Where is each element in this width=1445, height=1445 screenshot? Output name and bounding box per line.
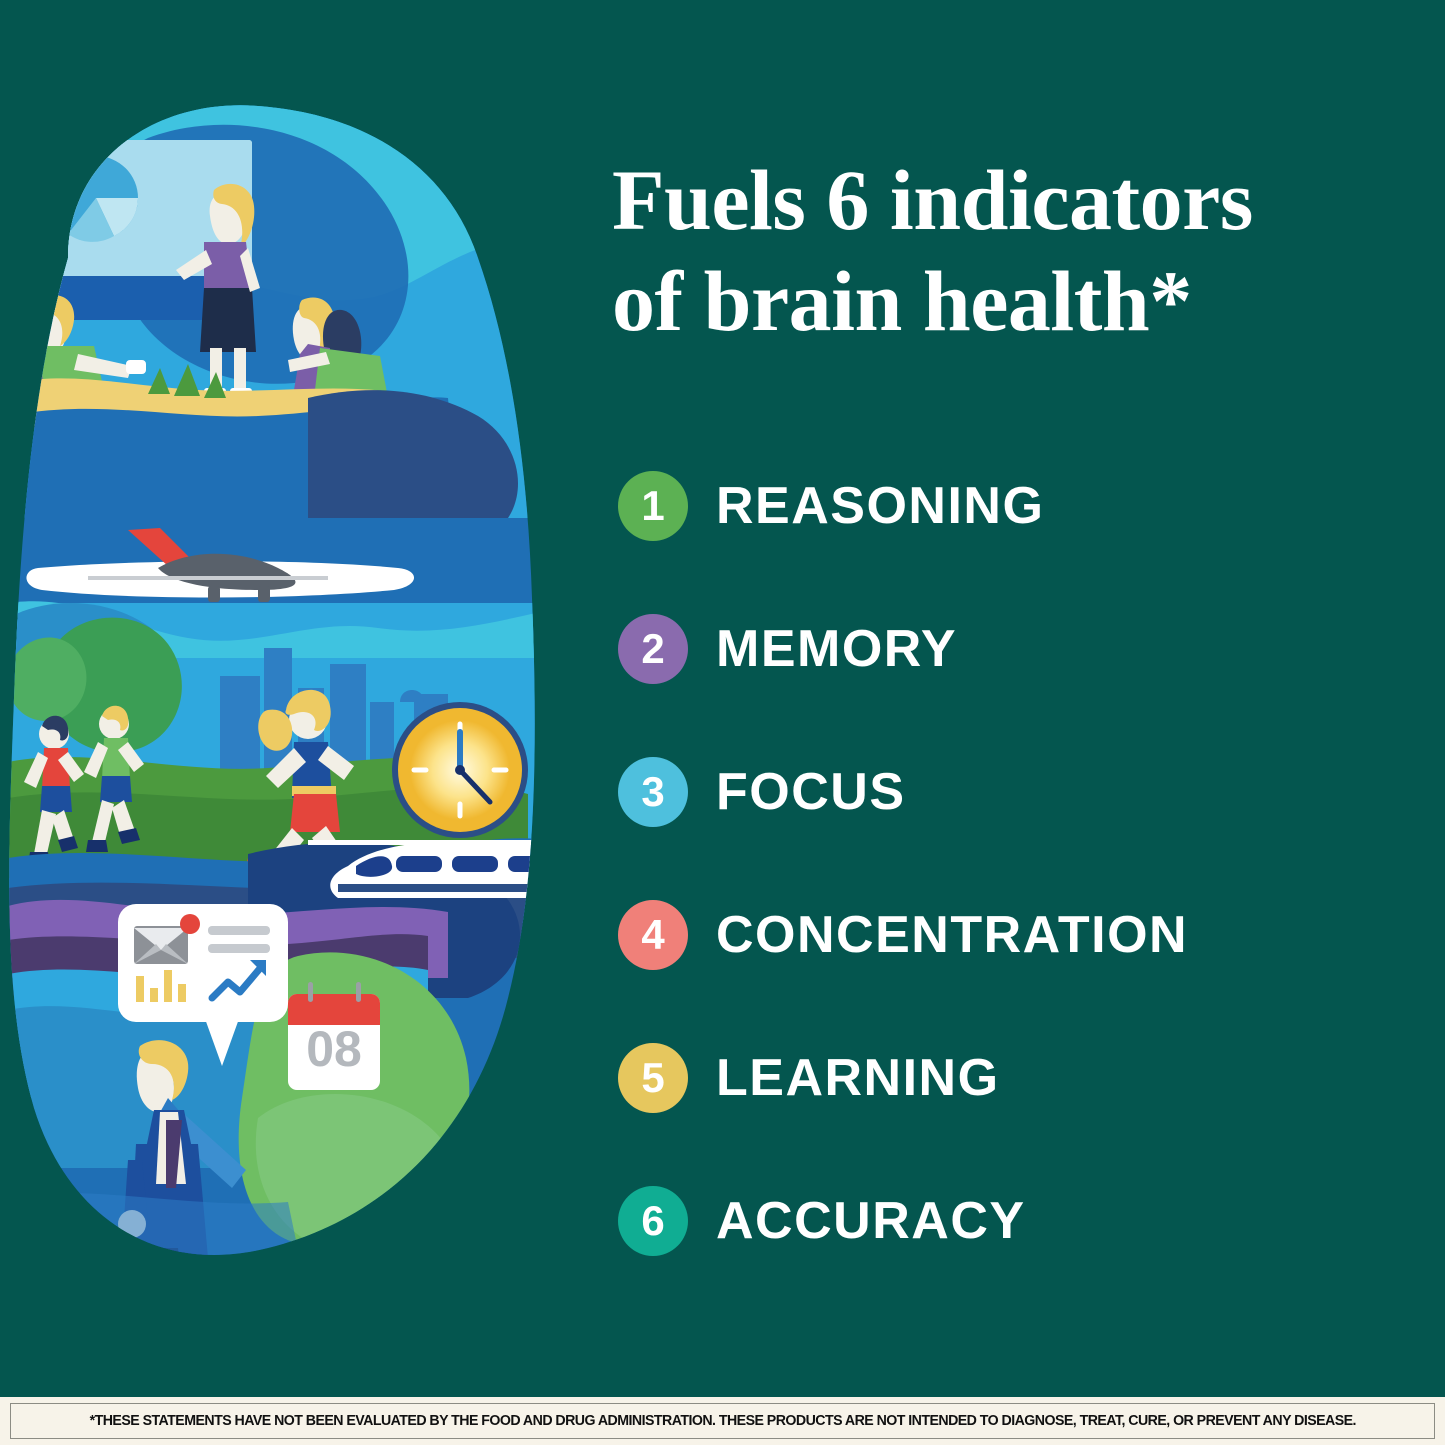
disclaimer-box: *THESE STATEMENTS HAVE NOT BEEN EVALUATE… — [10, 1403, 1435, 1439]
indicator-item-2: 2 MEMORY — [618, 613, 1418, 685]
disclaimer-text: *THESE STATEMENTS HAVE NOT BEEN EVALUATE… — [89, 1413, 1355, 1429]
indicator-label-1: REASONING — [716, 476, 1044, 536]
indicator-badge-1: 1 — [618, 471, 688, 541]
email-icon — [134, 926, 188, 964]
brain-health-infographic: 08 — [0, 0, 1445, 1445]
page-title: Fuels 6 indicators of brain health* — [612, 150, 1412, 351]
indicator-item-1: 1 REASONING — [618, 470, 1418, 542]
brain-illustration: 08 — [8, 98, 568, 1298]
indicator-item-5: 5 LEARNING — [618, 1042, 1418, 1114]
indicator-list: 1 REASONING 2 MEMORY 3 FOCUS 4 CONCENTRA… — [618, 470, 1418, 1257]
indicator-item-3: 3 FOCUS — [618, 756, 1418, 828]
indicator-badge-4: 4 — [618, 900, 688, 970]
svg-text:08: 08 — [306, 1021, 362, 1077]
notification-dot — [180, 914, 200, 934]
indicator-label-6: ACCURACY — [716, 1191, 1026, 1251]
glowing-clock — [392, 702, 528, 838]
indicator-label-2: MEMORY — [716, 619, 957, 679]
indicator-item-4: 4 CONCENTRATION — [618, 899, 1418, 971]
indicator-badge-2: 2 — [618, 614, 688, 684]
indicator-badge-6: 6 — [618, 1186, 688, 1256]
disclaimer-bar: *THESE STATEMENTS HAVE NOT BEEN EVALUATE… — [0, 1397, 1445, 1445]
indicator-label-5: LEARNING — [716, 1048, 1000, 1108]
scene-commuter: 08 — [8, 900, 469, 1298]
indicator-label-4: CONCENTRATION — [716, 905, 1188, 965]
content-panel: Fuels 6 indicators of brain health* — [612, 150, 1412, 351]
calendar: 08 — [288, 982, 380, 1090]
scene-business-presentation — [8, 98, 568, 518]
indicator-label-3: FOCUS — [716, 762, 906, 822]
indicator-badge-3: 3 — [618, 757, 688, 827]
indicator-badge-5: 5 — [618, 1043, 688, 1113]
brain-silhouette: 08 — [8, 98, 568, 1298]
indicator-item-6: 6 ACCURACY — [618, 1185, 1418, 1257]
